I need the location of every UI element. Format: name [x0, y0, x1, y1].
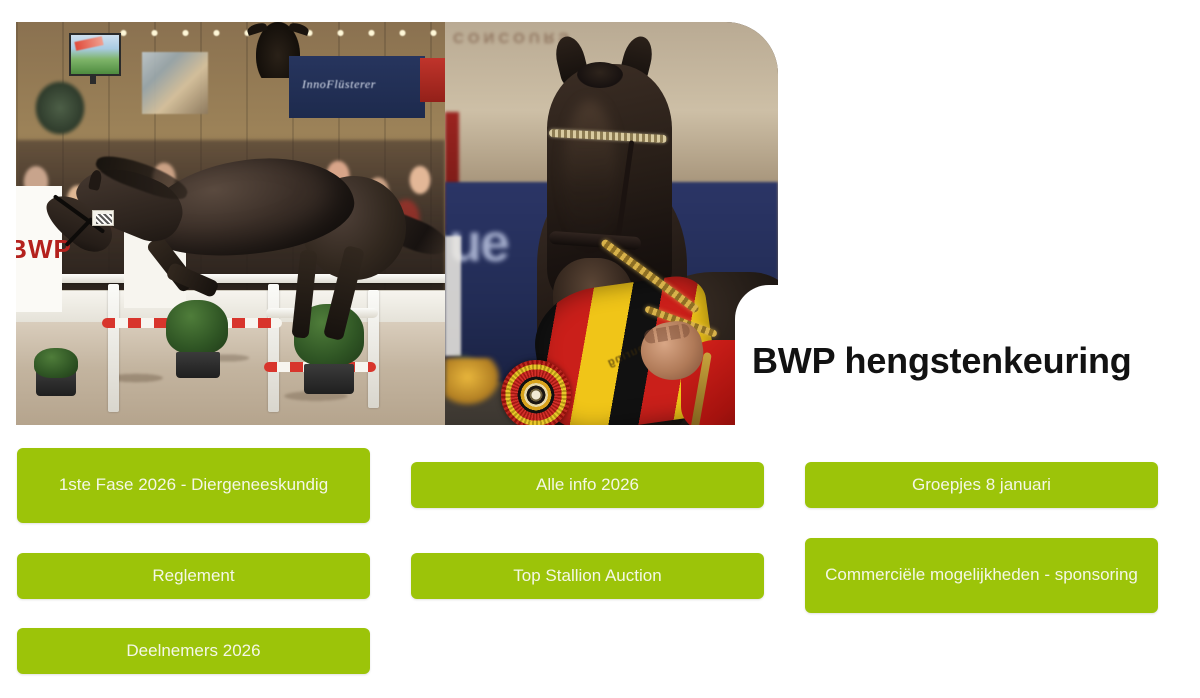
jumping-horse: [34, 138, 434, 368]
stallion-forelock: [577, 62, 623, 88]
quick-links-grid: 1ste Fase 2026 - Diergeneeskundig Reglem…: [0, 440, 1200, 698]
plant-pot-3: [304, 364, 354, 394]
champion-stallion-portrait-photo: CONCOURS ue hengstkeuring: [445, 22, 778, 425]
link-button-commerciele-mogelijkheden-sponsoring[interactable]: Commerciële mogelijkheden - sponsoring: [805, 538, 1158, 613]
slot: Commerciële mogelijkheden - sponsoring: [805, 538, 1158, 613]
slot: Groepjes 8 januari: [805, 462, 1158, 508]
arena-screen-icon: [69, 33, 121, 76]
slot: Deelnemers 2026: [17, 628, 370, 674]
background-yellow-light: [445, 358, 501, 406]
link-button-top-stallion-auction[interactable]: Top Stallion Auction: [411, 553, 764, 599]
sponsor-banner-text: InnoFlüsterer: [302, 77, 414, 93]
slot: Reglement: [17, 553, 370, 599]
stallion-face-highlight: [563, 100, 617, 250]
champion-rosette: [501, 360, 571, 425]
wall-poster: [142, 52, 208, 114]
slot: Alle info 2026: [411, 462, 764, 508]
horse-hind-leg-2: [291, 249, 317, 338]
link-button-1ste-fase-2026-diergeneeskundig[interactable]: 1ste Fase 2026 - Diergeneeskundig: [17, 448, 370, 523]
background-signage-text: CONCOURS: [453, 26, 733, 46]
jumping-stallion-photo: InnoFlüsterer BWP: [16, 22, 445, 425]
link-button-groepjes-8-januari[interactable]: Groepjes 8 januari: [805, 462, 1158, 508]
hero-banner: InnoFlüsterer BWP: [16, 22, 778, 425]
horse-number-tag: [92, 210, 114, 226]
wall-plant: [34, 80, 86, 136]
page-title: BWP hengstenkeuring: [752, 340, 1132, 382]
link-button-reglement[interactable]: Reglement: [17, 553, 370, 599]
slot: 1ste Fase 2026 - Diergeneeskundig: [17, 448, 370, 523]
horse-fore-leg-2: [165, 262, 219, 299]
link-button-deelnemers-2026[interactable]: Deelnemers 2026: [17, 628, 370, 674]
slot: Top Stallion Auction: [411, 553, 764, 599]
screen-stand: [90, 76, 96, 84]
page-root: InnoFlüsterer BWP: [0, 0, 1200, 698]
red-flag: [420, 58, 445, 102]
link-button-alle-info-2026[interactable]: Alle info 2026: [411, 462, 764, 508]
background-white-panel: [445, 236, 461, 356]
